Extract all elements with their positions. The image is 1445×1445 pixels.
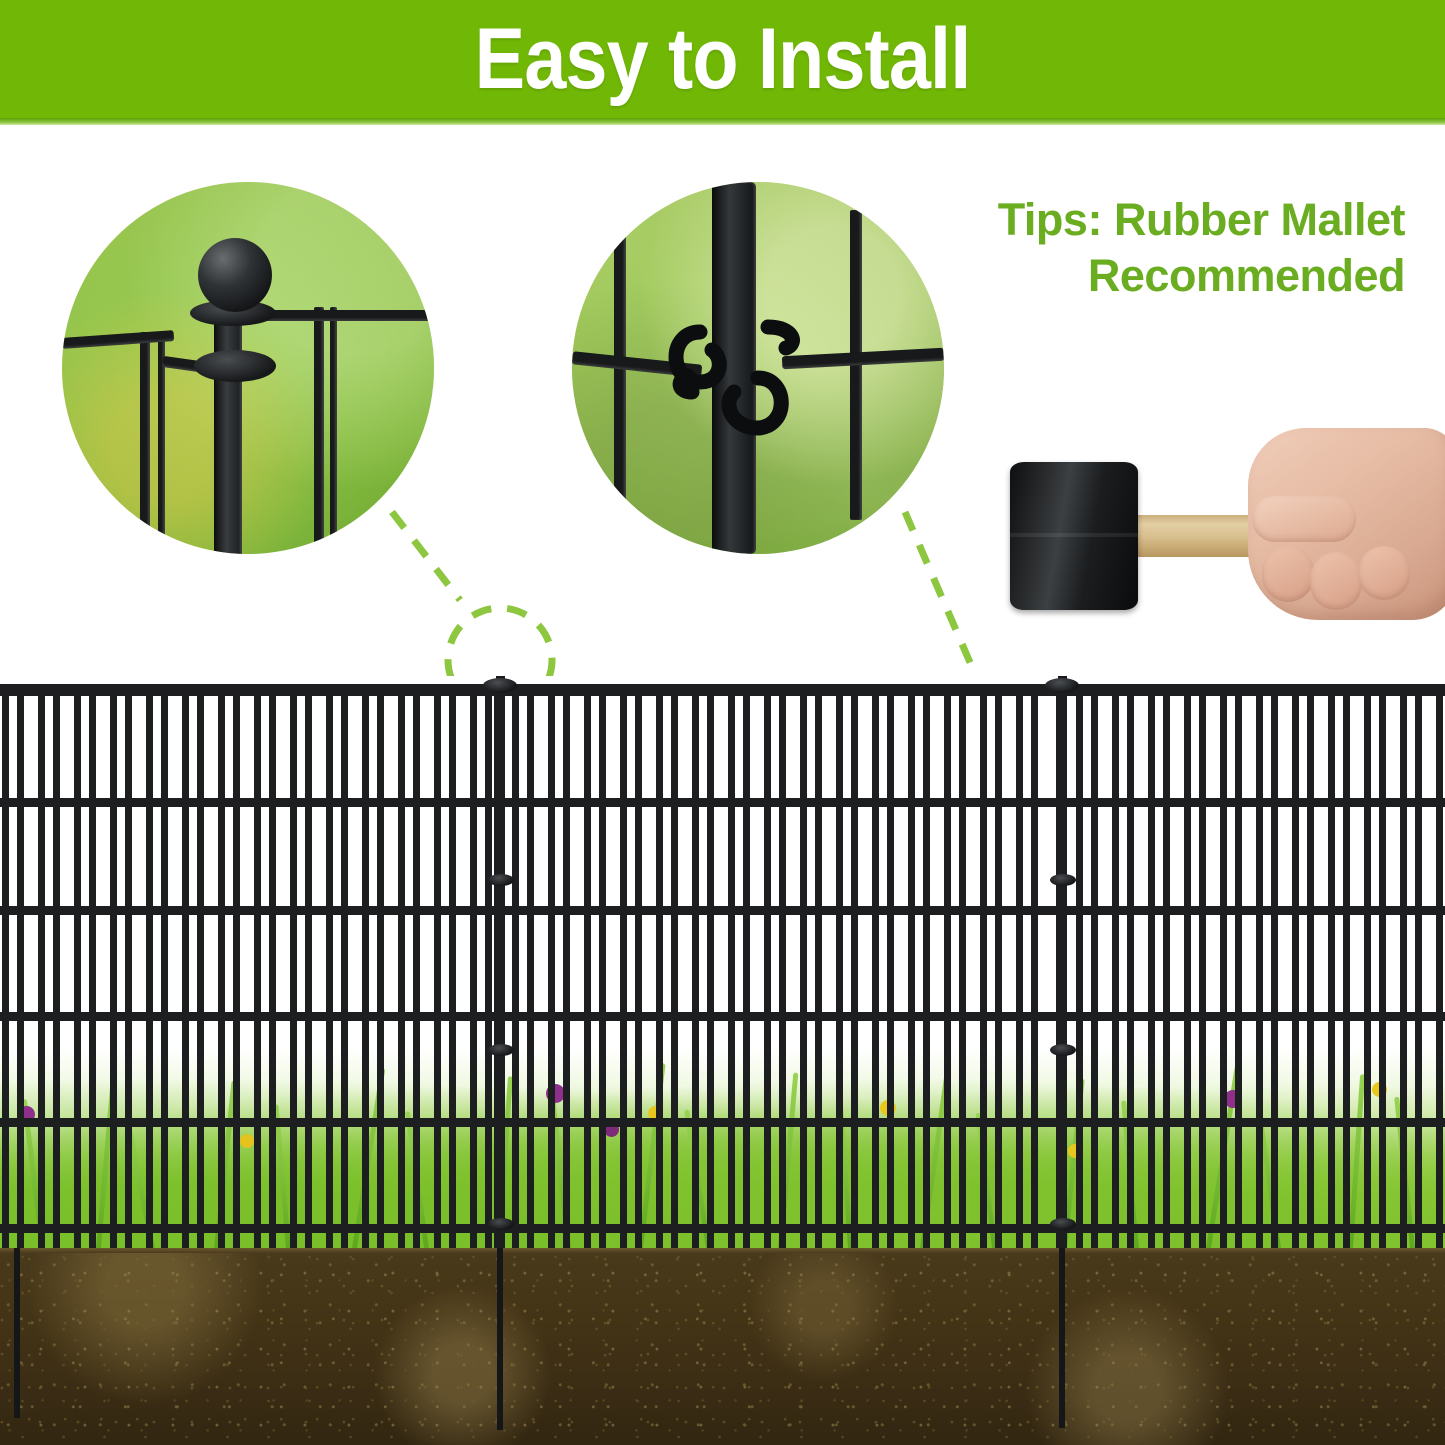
post-cap [1045,678,1079,693]
page-title: Easy to Install [87,0,1359,118]
flower-yellow [648,1106,663,1121]
flower-yellow [1372,1082,1387,1097]
soil-cross-section [0,1248,1445,1445]
panel-hook-joint [1050,1218,1076,1230]
thumb [1252,496,1356,542]
post-cap [483,678,517,693]
post-collar [194,350,276,382]
grass-blade [352,1068,385,1249]
grass-blade [273,1104,291,1248]
finger [1310,552,1362,610]
wire-vertical [314,307,324,554]
header-banner-edge [0,118,1445,125]
soil-surface-line [0,1248,1445,1253]
panel-hook-joint [488,1218,514,1230]
post-ball-finial [198,238,272,312]
flower-yellow [240,1134,254,1148]
flower-yellow [880,1100,896,1116]
tips-line-1: Rubber Mallet [1114,194,1405,245]
flower-purple [546,1084,565,1103]
fence-installation-scene [0,676,1445,1445]
grass-blade [684,1109,711,1248]
grass-blade [125,1118,155,1249]
grass-blade [96,1072,116,1248]
panel-hook-joint [1050,874,1076,886]
callout-circle-s-hook [572,182,944,554]
tips-text-block: Tips: Rubber Mallet Recommended [885,192,1405,305]
grass-blade [638,1063,666,1248]
panel-hook-joint [488,1044,514,1056]
grass-blade [1394,1097,1415,1249]
grass-blade [778,1072,798,1248]
flower-purple [18,1106,35,1123]
panel-hook-joint [488,874,514,886]
finger [1262,546,1314,602]
mallet-rubber-head [1010,462,1138,610]
grass-blade [550,1099,571,1249]
grass-blade [920,1069,950,1248]
grass-blade [1121,1100,1139,1248]
tips-label: Tips: [998,194,1102,245]
flower-purple [1224,1090,1242,1108]
grass-blade [1348,1074,1365,1248]
tips-line-2: Recommended [1088,250,1405,301]
fence-post [712,182,756,554]
grass-blade [405,1111,429,1248]
panel-hook-joint [1050,1044,1076,1056]
wire-vertical [330,307,337,554]
grass-blade [975,1113,997,1249]
flower-purple [604,1122,619,1137]
finger [1358,546,1410,600]
flower-yellow [1068,1144,1082,1158]
product-infographic: Easy to Install Tips: Rubber Mallet Reco… [0,0,1445,1445]
grass-blade [214,1081,237,1249]
callout-circle-ball-finial [62,182,434,554]
grass-blade [1256,1107,1281,1248]
wire-vertical [140,332,150,554]
grass-band [0,1048,1445,1248]
grass-blade [838,1102,853,1248]
rail-horizontal [252,310,434,321]
